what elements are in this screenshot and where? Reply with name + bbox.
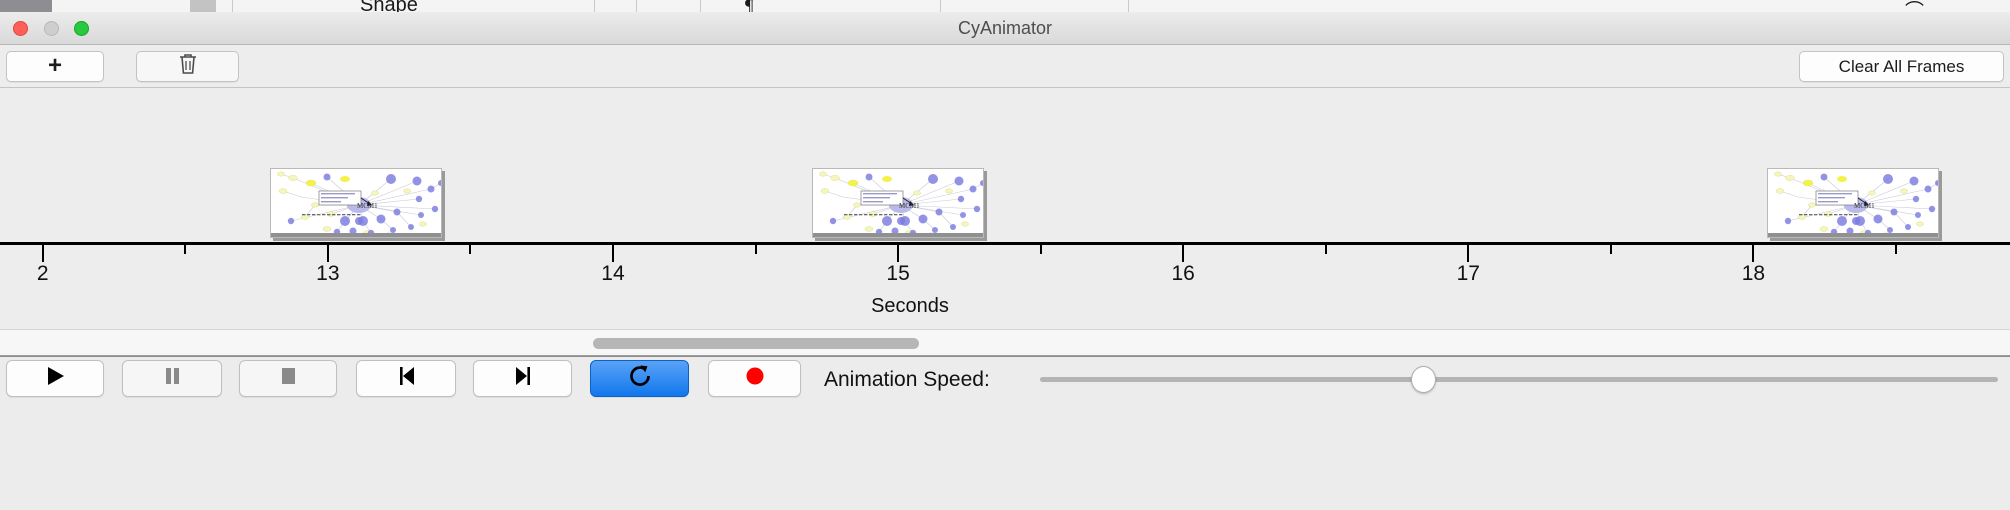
record-icon <box>742 364 768 393</box>
window-titlebar: CyAnimator <box>0 12 2010 45</box>
axis-tick-minor <box>469 245 471 254</box>
skip-back-icon <box>393 364 419 393</box>
frame-shadow <box>271 233 441 237</box>
trash-icon <box>177 52 199 81</box>
svg-text:MCM1: MCM1 <box>1854 202 1875 210</box>
animation-speed-slider-knob[interactable] <box>1411 366 1436 393</box>
axis-tick-label: 18 <box>1723 262 1783 286</box>
axis-tick-label: 16 <box>1153 262 1213 286</box>
axis-tick-label: 13 <box>298 262 358 286</box>
frame-shadow <box>813 233 983 237</box>
axis-tick-minor <box>755 245 757 254</box>
play-icon <box>42 364 68 393</box>
axis-tick-minor <box>1325 245 1327 254</box>
stop-icon <box>275 364 301 393</box>
add-frame-button[interactable]: + <box>6 51 104 82</box>
stop-button[interactable] <box>239 360 337 397</box>
axis-tick-major <box>612 245 614 262</box>
timeline-scrollbar-thumb[interactable] <box>593 338 919 349</box>
axis-tick-minor <box>184 245 186 254</box>
pause-button[interactable] <box>122 360 222 397</box>
axis-tick-major <box>1752 245 1754 262</box>
timeline-frame-thumbnail[interactable]: MCM1 <box>812 168 984 238</box>
axis-tick-major <box>42 245 44 262</box>
axis-tick-label: 17 <box>1438 262 1498 286</box>
axis-tick-major <box>897 245 899 262</box>
previous-button[interactable] <box>356 360 456 397</box>
network-thumbnail-graphic: MCM1 <box>271 169 442 238</box>
axis-tick-major <box>327 245 329 262</box>
timeline-frame-thumbnail[interactable]: MCM1 <box>270 168 442 238</box>
skip-forward-icon <box>510 364 536 393</box>
frame-toolbar: + Clear All Frames <box>0 45 2010 88</box>
timeline-axis <box>0 242 2010 245</box>
svg-text:MCM1: MCM1 <box>357 202 378 210</box>
cyanimator-window: ¶ ⌒ Shape CyAnimator + Clear All Frames … <box>0 0 2010 510</box>
axis-caption: Seconds <box>810 295 1010 318</box>
axis-tick-label: 14 <box>583 262 643 286</box>
animation-speed-slider-track[interactable] <box>1040 377 1998 382</box>
axis-tick-minor <box>1040 245 1042 254</box>
clear-all-frames-label: Clear All Frames <box>1839 57 1965 77</box>
pause-icon <box>159 364 185 393</box>
play-button[interactable] <box>6 360 104 397</box>
network-thumbnail-graphic: MCM1 <box>1768 169 1939 238</box>
axis-tick-label: 15 <box>868 262 928 286</box>
timeline-frame-thumbnail[interactable]: MCM1 <box>1767 168 1939 238</box>
animation-speed-label: Animation Speed: <box>824 368 990 392</box>
loop-icon <box>626 363 654 394</box>
network-thumbnail-graphic: MCM1 <box>813 169 984 238</box>
window-title: CyAnimator <box>0 12 2010 45</box>
background-app-strip: ¶ ⌒ Shape <box>0 0 2010 12</box>
timeline-scrollbar-track[interactable] <box>0 329 2010 356</box>
delete-frame-button[interactable] <box>136 51 239 82</box>
clear-all-frames-button[interactable]: Clear All Frames <box>1799 51 2004 82</box>
plus-icon: + <box>48 54 62 78</box>
axis-tick-major <box>1182 245 1184 262</box>
timeline-panel[interactable]: MCM1MCM1MCM1 <box>0 88 2010 329</box>
record-button[interactable] <box>708 360 801 397</box>
axis-tick-label: 2 <box>13 262 73 286</box>
next-button[interactable] <box>473 360 572 397</box>
loop-button[interactable] <box>590 360 689 397</box>
frame-shadow <box>1768 233 1938 237</box>
axis-tick-minor <box>1610 245 1612 254</box>
playback-control-bar: Animation Speed: <box>0 356 2010 510</box>
axis-tick-major <box>1467 245 1469 262</box>
axis-tick-minor <box>1895 245 1897 254</box>
svg-text:MCM1: MCM1 <box>899 202 920 210</box>
